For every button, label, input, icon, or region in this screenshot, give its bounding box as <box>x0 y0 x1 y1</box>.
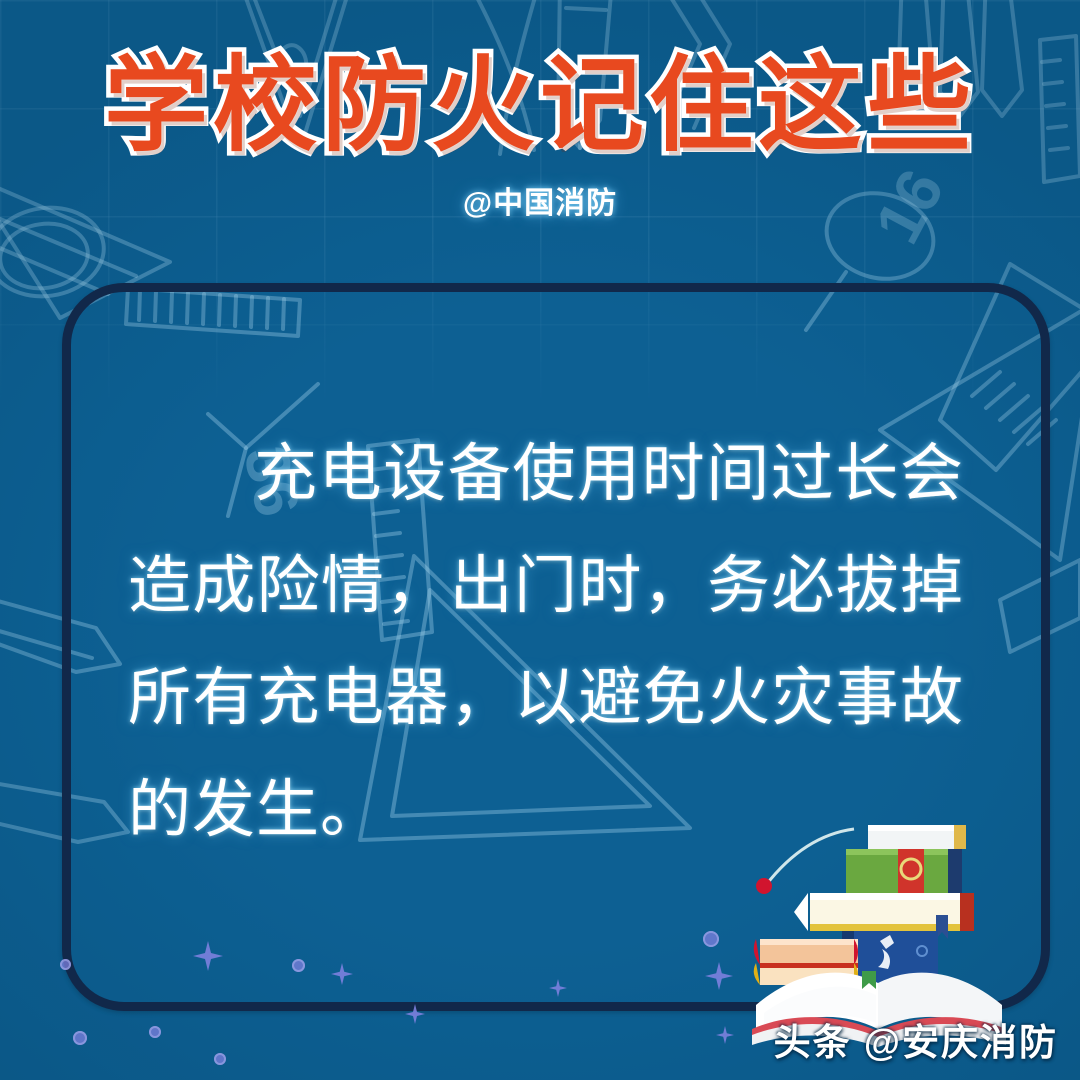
fire-safety-poster: 16 36 <box>0 0 1080 1080</box>
sparkle-dot <box>292 959 305 972</box>
sparkle-dot <box>214 1053 226 1065</box>
sparkle-dot <box>703 931 719 947</box>
body-text: 充电设备使用时间过长会造成险情，出门时，务必拔掉所有充电器，以避免火灾事故的发生… <box>128 418 964 867</box>
page-title: 学校防火记住这些 <box>0 48 1080 164</box>
sparkle-dot <box>60 959 71 970</box>
source-attribution: @中国消防 <box>0 178 1080 222</box>
sparkle-dot <box>73 1031 87 1045</box>
book-top-white <box>868 825 966 849</box>
book-green <box>846 849 962 893</box>
poster-header: 学校防火记住这些 @中国消防 <box>0 0 1080 272</box>
watermark-label: 头条 @安庆消防 <box>774 1012 1058 1066</box>
sparkle-dot <box>149 1026 161 1038</box>
